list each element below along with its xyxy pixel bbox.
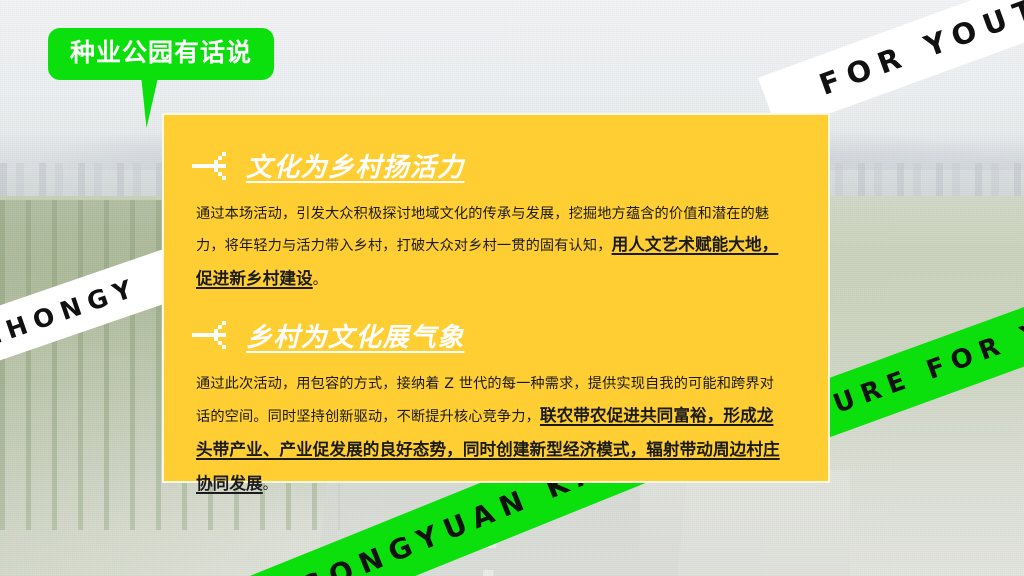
section-village-body-plain-2: 。 [263, 477, 277, 493]
content-card: 文化为乡村扬活力 通过本场活动，引发大众积极探讨地域文化的传承与发展，挖掘地方蕴… [162, 113, 830, 483]
section-culture-header: 文化为乡村扬活力 [192, 147, 786, 184]
section-village: 乡村为文化展气象 通过此次活动，用包容的方式，接纳着 Z 世代的每一种需求，提供… [192, 317, 786, 501]
slide-canvas: GONGYUAN KA ZHONGY URE FOR Y FOR YOUT 种业… [0, 0, 1024, 576]
section-village-title: 乡村为文化展气象 [246, 317, 464, 354]
section-village-header: 乡村为文化展气象 [192, 317, 786, 354]
section-culture-title: 文化为乡村扬活力 [246, 147, 464, 184]
section-culture: 文化为乡村扬活力 通过本场活动，引发大众积极探讨地域文化的传承与发展，挖掘地方蕴… [192, 147, 786, 295]
section-culture-body: 通过本场活动，引发大众积极探讨地域文化的传承与发展，挖掘地方蕴含的价值和潜在的魅… [192, 200, 786, 295]
section-culture-body-plain-2: 。 [313, 272, 327, 288]
pixel-arrow-right-icon [192, 321, 232, 349]
section-village-body: 通过此次活动，用包容的方式，接纳着 Z 世代的每一种需求，提供实现自我的可能和跨… [192, 370, 786, 501]
pixel-arrow-right-icon [192, 152, 232, 180]
speech-bubble-text: 种业公园有话说 [70, 38, 252, 67]
speech-bubble: 种业公园有话说 [48, 28, 274, 80]
speech-bubble-body: 种业公园有话说 [48, 28, 274, 80]
